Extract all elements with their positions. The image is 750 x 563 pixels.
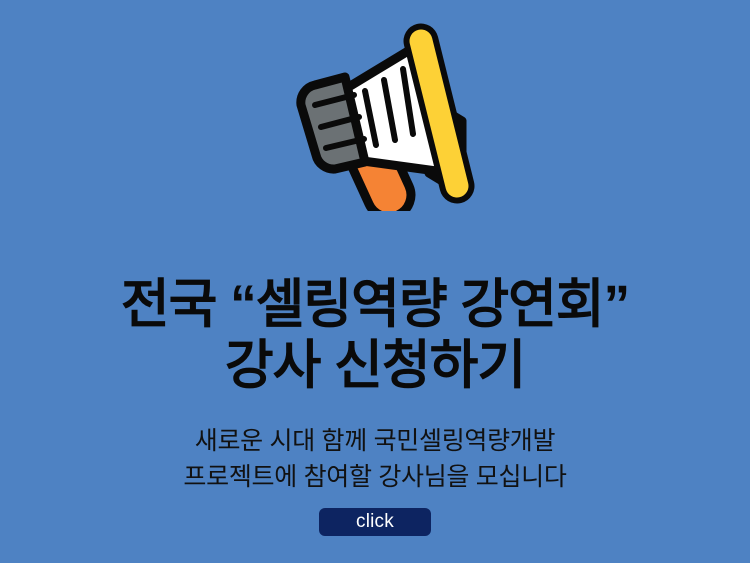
banner-subtitle: 새로운 시대 함께 국민셀링역량개발 프로젝트에 참여할 강사님을 모십니다 — [0, 423, 750, 495]
megaphone-rim-fill — [421, 41, 457, 186]
megaphone-handle — [301, 77, 365, 169]
subtitle-line-2: 프로젝트에 참여할 강사님을 모십니다 — [0, 459, 750, 495]
headline-line-2: 강사 신청하기 — [0, 335, 750, 396]
megaphone-cone-lines — [365, 59, 431, 145]
megaphone-accent-wedge — [429, 101, 462, 193]
cta-row: click — [0, 508, 750, 536]
banner-headline: 전국 “셀링역량 강연회” 강사 신청하기 — [0, 274, 750, 396]
promo-banner: 전국 “셀링역량 강연회” 강사 신청하기 새로운 시대 함께 국민셀링역량개발… — [0, 0, 750, 563]
megaphone-grip — [342, 127, 411, 211]
headline-line-1: 전국 “셀링역량 강연회” — [0, 274, 750, 335]
click-button[interactable]: click — [319, 508, 431, 536]
megaphone-handle-lines — [315, 95, 364, 148]
megaphone-cone — [342, 45, 451, 173]
subtitle-line-1: 새로운 시대 함께 국민셀링역량개발 — [0, 423, 750, 459]
megaphone-illustration — [0, 18, 750, 213]
megaphone-rim — [421, 41, 457, 186]
megaphone-icon — [275, 21, 475, 211]
